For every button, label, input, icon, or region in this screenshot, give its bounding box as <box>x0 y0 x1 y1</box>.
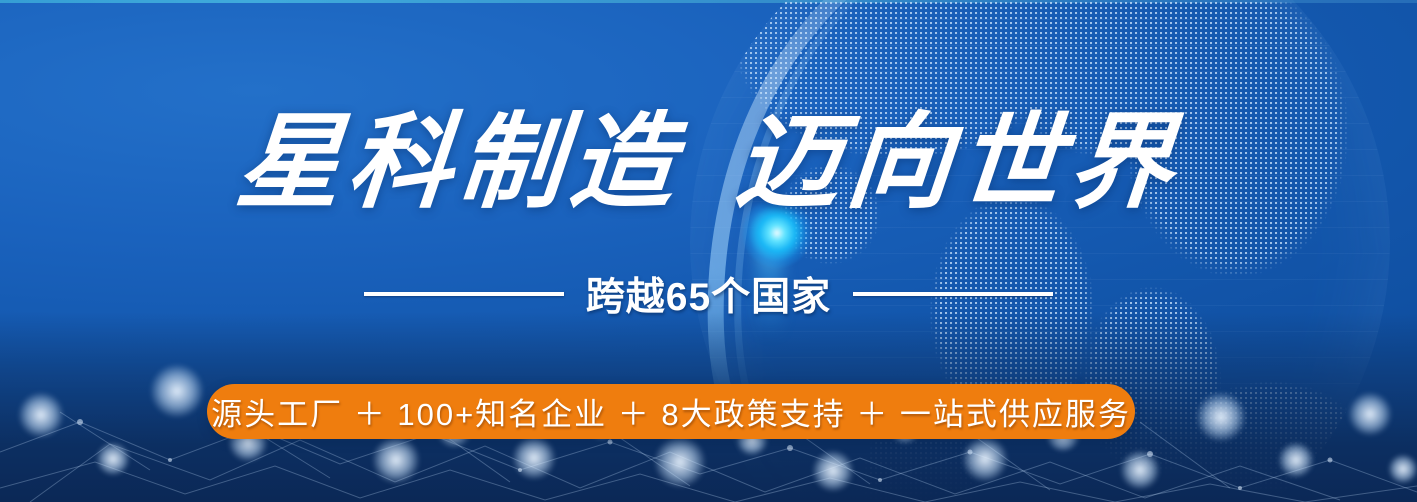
value-proposition-text: 源头工厂 ＋ 100+知名企业 ＋ 8大政策支持 ＋ 一站式供应服务 <box>211 389 1131 434</box>
headline-part-two: 迈向世界 <box>731 112 1184 216</box>
subheadline-rule-left <box>364 292 564 296</box>
subheadline: 跨越65个国家 <box>0 266 1417 322</box>
value-proposition-pill[interactable]: 源头工厂 ＋ 100+知名企业 ＋ 8大政策支持 ＋ 一站式供应服务 <box>207 384 1135 439</box>
headline-part-one: 星科制造 <box>233 112 686 216</box>
subheadline-text: 跨越65个国家 <box>586 266 831 322</box>
headline: 星科制造 迈向世界 <box>0 112 1417 216</box>
subheadline-rule-right <box>853 292 1053 296</box>
promo-banner: 星科制造 迈向世界 跨越65个国家 源头工厂 ＋ 100+知名企业 ＋ 8大政策… <box>0 0 1417 502</box>
banner-content: 星科制造 迈向世界 跨越65个国家 源头工厂 ＋ 100+知名企业 ＋ 8大政策… <box>0 0 1417 502</box>
